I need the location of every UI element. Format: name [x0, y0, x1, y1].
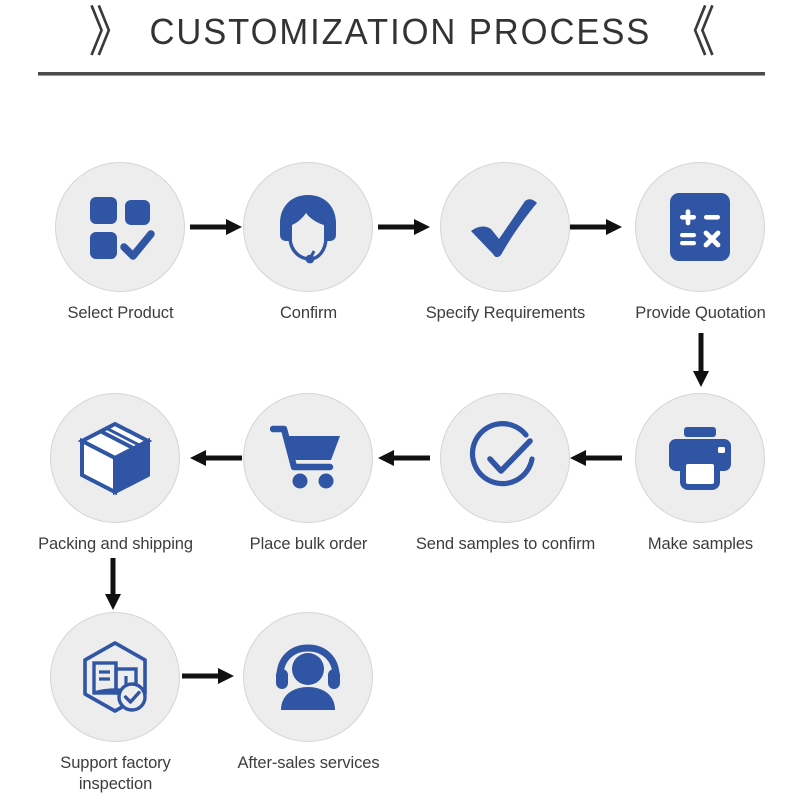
circle-check-icon — [466, 419, 544, 497]
step-icon-circle — [440, 393, 570, 523]
arrow-inspection-to-aftersales — [182, 663, 234, 689]
step-send-samples-to-confirm[interactable]: Send samples to confirm — [425, 393, 585, 555]
step-icon-circle — [243, 393, 373, 523]
step-icon-circle — [50, 393, 180, 523]
step-icon-circle — [55, 162, 185, 292]
shield-factory-check-icon — [77, 639, 153, 715]
step-label: Make samples — [613, 534, 788, 555]
step-icon-circle — [243, 612, 373, 742]
arrow-specify-to-quotation — [570, 214, 622, 240]
calculator-icon — [667, 190, 733, 264]
step-label: Packing and shipping — [13, 534, 218, 555]
step-label: Support factory inspection — [13, 753, 218, 795]
package-box-icon — [76, 421, 154, 495]
step-label: Select Product — [33, 303, 208, 324]
step-label: Specify Requirements — [403, 303, 608, 324]
printer-icon — [663, 425, 737, 491]
chevron-left-decoration-icon: 《 — [669, 5, 711, 59]
step-specify-requirements[interactable]: Specify Requirements — [425, 162, 585, 324]
step-make-samples[interactable]: Make samples — [620, 393, 780, 555]
arrow-packing-to-inspection — [100, 558, 126, 610]
arrow-quotation-to-samples — [688, 333, 714, 387]
page-header: 》 CUSTOMIZATION PROCESS 《 — [0, 0, 800, 92]
step-icon-circle — [635, 162, 765, 292]
step-select-product[interactable]: Select Product — [40, 162, 200, 324]
support-person-icon — [270, 642, 346, 712]
title-divider — [38, 72, 765, 76]
step-label: Send samples to confirm — [403, 534, 608, 555]
step-icon-circle — [440, 162, 570, 292]
step-icon-circle — [635, 393, 765, 523]
step-icon-circle — [243, 162, 373, 292]
shopping-cart-icon — [270, 423, 346, 493]
step-label: Provide Quotation — [598, 303, 800, 324]
chevron-right-decoration-icon: 》 — [89, 5, 131, 59]
title-row: 》 CUSTOMIZATION PROCESS 《 — [0, 0, 800, 64]
step-icon-circle — [50, 612, 180, 742]
headset-agent-icon — [270, 189, 346, 265]
page-title: CUSTOMIZATION PROCESS — [149, 11, 651, 53]
step-label: Place bulk order — [221, 534, 396, 555]
grid-check-icon — [84, 191, 156, 263]
step-packing-and-shipping[interactable]: Packing and shipping — [35, 393, 195, 555]
step-place-bulk-order[interactable]: Place bulk order — [228, 393, 388, 555]
step-confirm[interactable]: Confirm — [228, 162, 388, 324]
arrow-bulk-to-packing — [190, 445, 242, 471]
step-after-sales-services[interactable]: After-sales services — [228, 612, 388, 774]
step-provide-quotation[interactable]: Provide Quotation — [620, 162, 780, 324]
step-support-factory-inspection[interactable]: Support factory inspection — [35, 612, 195, 795]
step-label: After-sales services — [206, 753, 411, 774]
step-label: Confirm — [221, 303, 396, 324]
arrow-confirm-to-specify — [378, 214, 430, 240]
checkmark-icon — [465, 187, 545, 267]
